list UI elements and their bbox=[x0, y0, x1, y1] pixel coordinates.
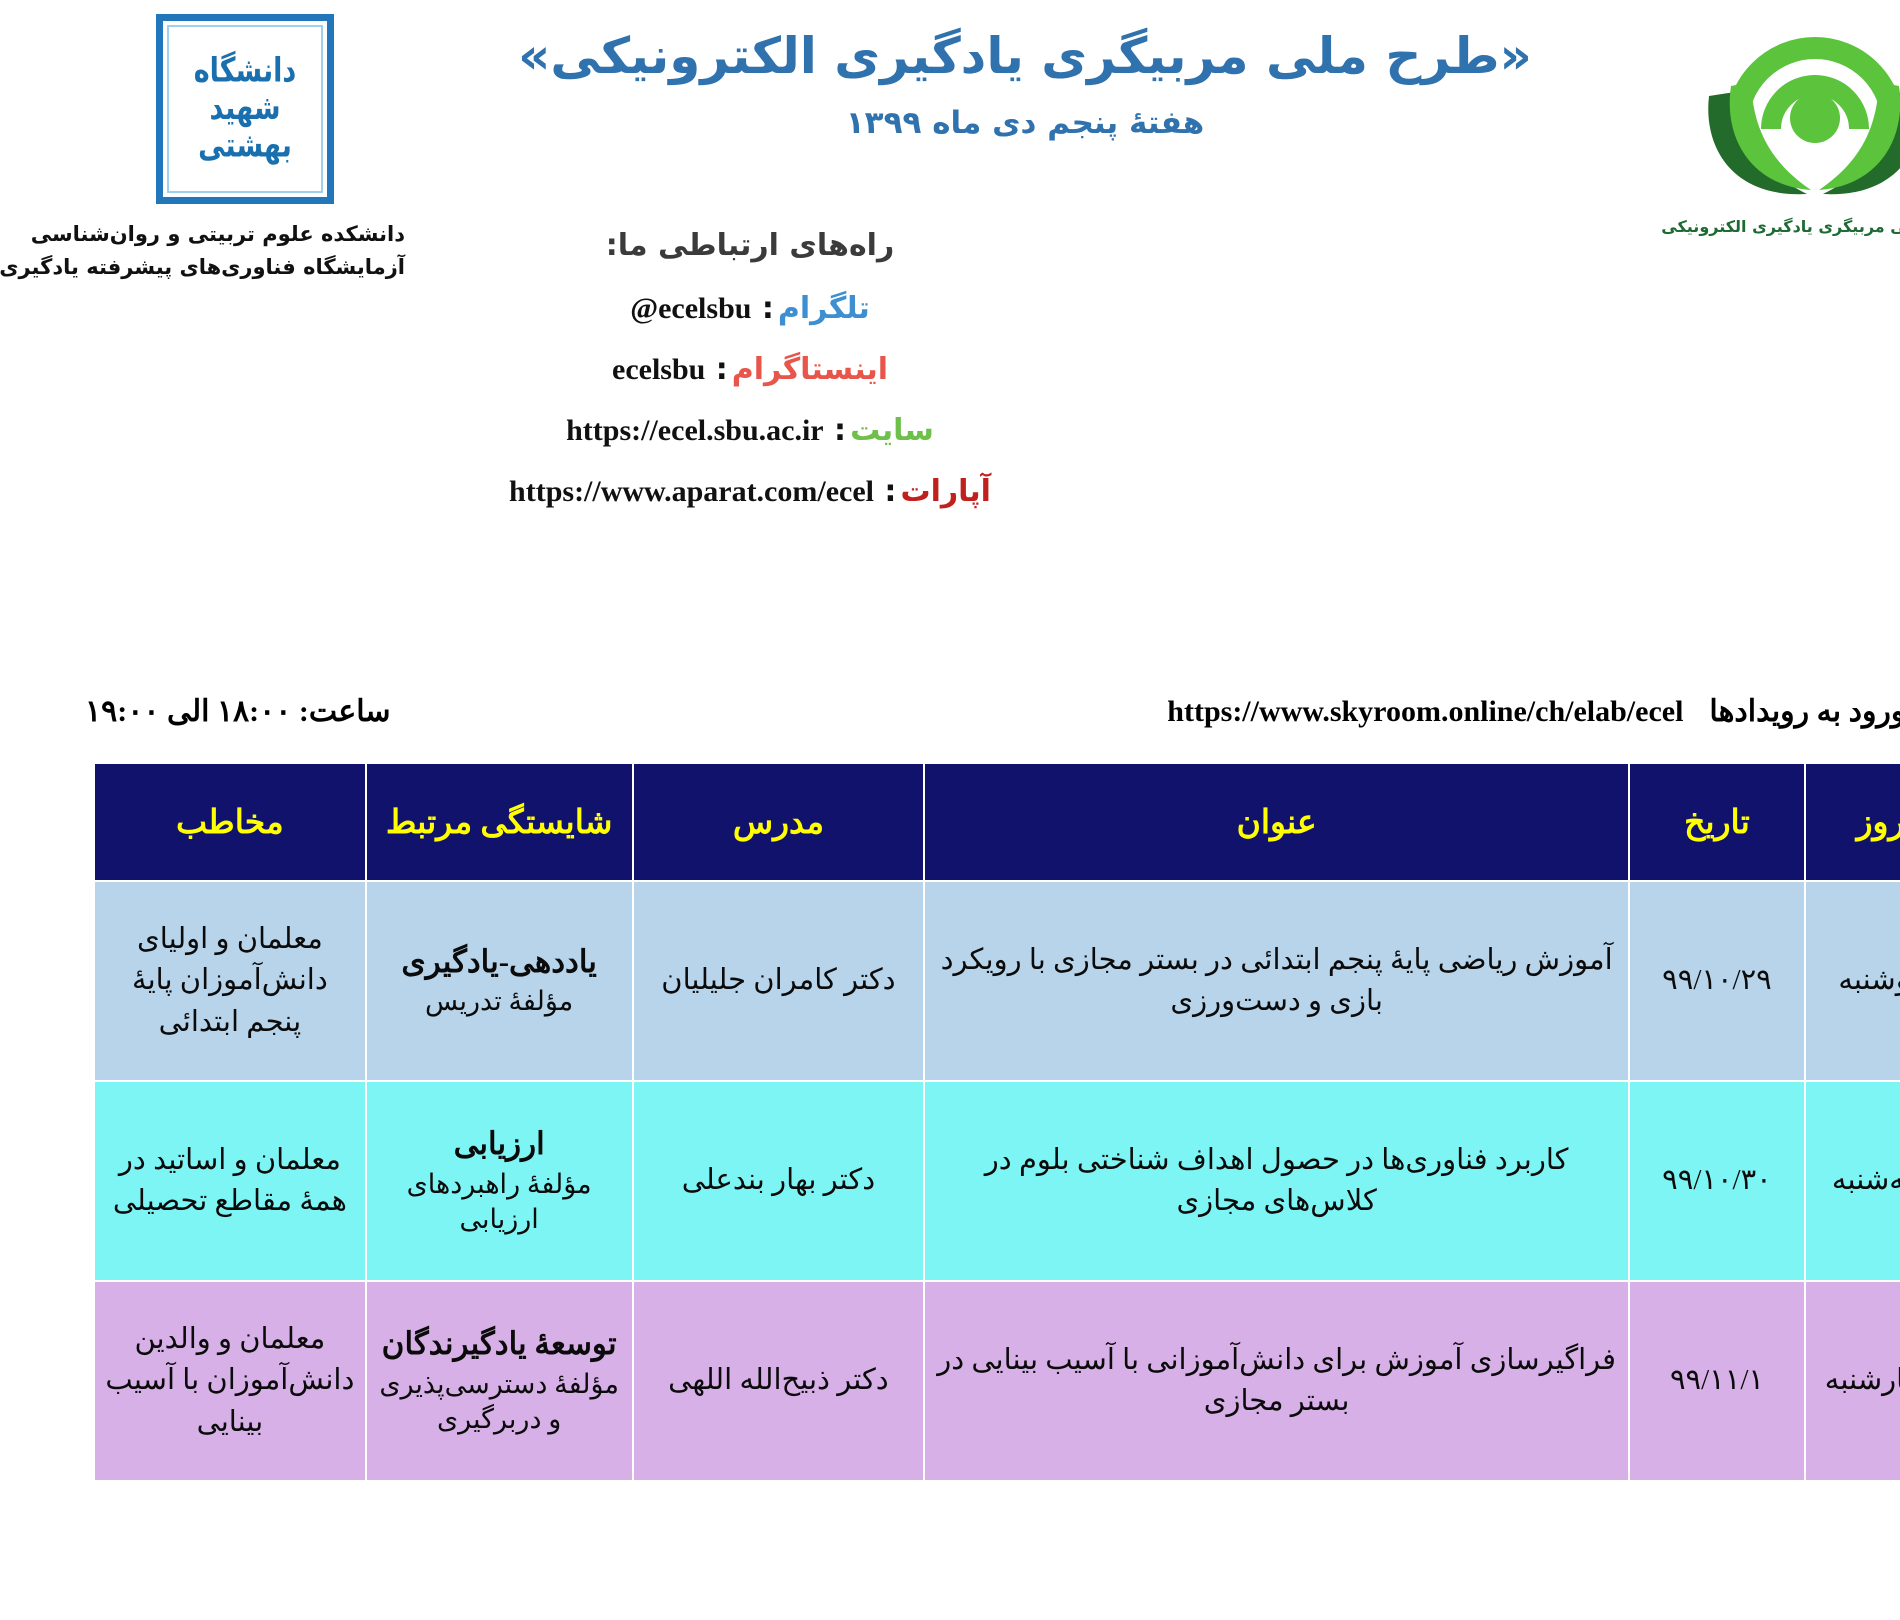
ecel-logo bbox=[1620, 8, 1860, 213]
cell-title: آموزش ریاضی پایۀ پنجم ابتدائی در بستر مج… bbox=[849, 881, 1554, 1081]
contact-section: راه‌های ارتباطی ما: تلگرام: @ecelsbu این… bbox=[0, 228, 1350, 535]
event-time: ساعت: ۱۸:۰۰ الی ۱۹:۰۰ bbox=[10, 694, 316, 729]
schedule-table-wrapper: روز تاریخ عنوان مدرس شایستگی مرتبط مخاطب… bbox=[18, 762, 1882, 1482]
sbu-logo-text: دانشگاه شهید بهشتی bbox=[94, 52, 246, 165]
cell-audience: معلمان و والدین دانش‌آموزان با آسیب بینا… bbox=[19, 1281, 291, 1481]
sbu-logo-inner: دانشگاه شهید بهشتی bbox=[92, 25, 248, 193]
telegram-label: تلگرام bbox=[703, 291, 795, 326]
event-link-strip: لینک ورود به رویدادهاhttps://www.skyroom… bbox=[0, 694, 1900, 752]
cell-teacher: دکتر کامران جلیلیان bbox=[558, 881, 850, 1081]
competency-sub: مؤلفۀ راهبردهای ارزیابی bbox=[300, 1167, 549, 1238]
table-row: سه‌شنبه ۹۹/۱۰/۳۰ کاربرد فناوری‌ها در حصو… bbox=[19, 1081, 1881, 1281]
table-body: دوشنبه ۹۹/۱۰/۲۹ آموزش ریاضی پایۀ پنجم اب… bbox=[19, 881, 1881, 1481]
cell-title: فراگیرسازی آموزش برای دانش‌آموزانی با آس… bbox=[849, 1281, 1554, 1481]
column-header-audience: مخاطب bbox=[19, 763, 291, 881]
table-row: دوشنبه ۹۹/۱۰/۲۹ آموزش ریاضی پایۀ پنجم اب… bbox=[19, 881, 1881, 1081]
competency-main: ارزیابی bbox=[300, 1124, 549, 1164]
event-link-url[interactable]: https://www.skyroom.online/ch/elab/ecel bbox=[1092, 695, 1608, 729]
column-header-day: روز bbox=[1730, 763, 1881, 881]
website-value[interactable]: https://ecel.sbu.ac.ir bbox=[491, 414, 748, 448]
competency-sub: مؤلفۀ دسترسی‌پذیری و دربرگیری bbox=[300, 1367, 549, 1438]
cell-day: چهارشنبه bbox=[1730, 1281, 1881, 1481]
page-title: «طرح ملی مربیگری یادگیری الکترونیکی» bbox=[330, 26, 1570, 87]
aparat-value[interactable]: https://www.aparat.com/ecel bbox=[434, 475, 799, 509]
ecel-broadcast-hands-icon bbox=[1620, 8, 1860, 213]
contact-row-aparat: آپارات: https://www.aparat.com/ecel bbox=[0, 474, 1350, 509]
event-link-group: لینک ورود به رویدادهاhttps://www.skyroom… bbox=[1092, 694, 1892, 729]
contact-colon: : bbox=[799, 474, 821, 509]
telegram-value[interactable]: @ecelsbu bbox=[555, 292, 676, 326]
contact-heading: راه‌های ارتباطی ما: bbox=[0, 228, 1350, 263]
table-head: روز تاریخ عنوان مدرس شایستگی مرتبط مخاطب bbox=[19, 763, 1881, 881]
cell-day: دوشنبه bbox=[1730, 881, 1881, 1081]
contact-row-instagram: اینستاگرام: ecelsbu bbox=[0, 352, 1350, 387]
column-header-title: عنوان bbox=[849, 763, 1554, 881]
cell-audience: معلمان و اولیای دانش‌آموزان پایۀ پنجم اب… bbox=[19, 881, 291, 1081]
cell-date: ۹۹/۱۱/۱ bbox=[1554, 1281, 1730, 1481]
cell-competency: توسعۀ یادگیرندگان مؤلفۀ دسترسی‌پذیری و د… bbox=[291, 1281, 558, 1481]
cell-audience: معلمان و اساتید در همۀ مقاطع تحصیلی bbox=[19, 1081, 291, 1281]
cell-competency: ارزیابی مؤلفۀ راهبردهای ارزیابی bbox=[291, 1081, 558, 1281]
cell-title: کاربرد فناوری‌ها در حصول اهداف شناختی بل… bbox=[849, 1081, 1554, 1281]
column-header-date: تاریخ bbox=[1554, 763, 1730, 881]
website-label: سایت bbox=[775, 413, 859, 448]
cell-teacher: دکتر ذبیح‌الله اللهی bbox=[558, 1281, 850, 1481]
schedule-table: روز تاریخ عنوان مدرس شایستگی مرتبط مخاطب… bbox=[18, 762, 1882, 1482]
contact-colon: : bbox=[676, 291, 698, 326]
contact-colon: : bbox=[749, 413, 771, 448]
contact-colon: : bbox=[630, 352, 652, 387]
event-link-label: لینک ورود به رویدادها bbox=[1634, 695, 1892, 728]
table-header-row: روز تاریخ عنوان مدرس شایستگی مرتبط مخاطب bbox=[19, 763, 1881, 881]
cell-teacher: دکتر بهار بندعلی bbox=[558, 1081, 850, 1281]
contact-row-website: سایت: https://ecel.sbu.ac.ir bbox=[0, 413, 1350, 448]
aparat-label: آپارات bbox=[825, 474, 916, 509]
title-block: «طرح ملی مربیگری یادگیری الکترونیکی» هفت… bbox=[330, 26, 1570, 141]
instagram-value[interactable]: ecelsbu bbox=[537, 353, 630, 387]
contact-row-telegram: تلگرام: @ecelsbu bbox=[0, 291, 1350, 326]
ecel-caption: طرح ملی مربیگری یادگیری الکترونیکی bbox=[1590, 217, 1890, 236]
competency-main: یاددهی-یادگیری bbox=[300, 942, 549, 982]
sbu-logo: دانشگاه شهید بهشتی bbox=[81, 14, 259, 204]
column-header-teacher: مدرس bbox=[558, 763, 850, 881]
cell-day: سه‌شنبه bbox=[1730, 1081, 1881, 1281]
cell-competency: یاددهی-یادگیری مؤلفۀ تدریس bbox=[291, 881, 558, 1081]
page-subtitle: هفتهٔ پنجم دی ماه ۱۳۹۹ bbox=[330, 105, 1570, 141]
instagram-label: اینستاگرام bbox=[657, 352, 813, 387]
competency-main: توسعۀ یادگیرندگان bbox=[300, 1324, 549, 1364]
column-header-competency: شایستگی مرتبط bbox=[291, 763, 558, 881]
competency-sub: مؤلفۀ تدریس bbox=[300, 984, 549, 1020]
table-row: چهارشنبه ۹۹/۱۱/۱ فراگیرسازی آموزش برای د… bbox=[19, 1281, 1881, 1481]
cell-date: ۹۹/۱۰/۳۰ bbox=[1554, 1081, 1730, 1281]
ecel-branding: طرح ملی مربیگری یادگیری الکترونیکی bbox=[1590, 8, 1890, 236]
cell-date: ۹۹/۱۰/۲۹ bbox=[1554, 881, 1730, 1081]
